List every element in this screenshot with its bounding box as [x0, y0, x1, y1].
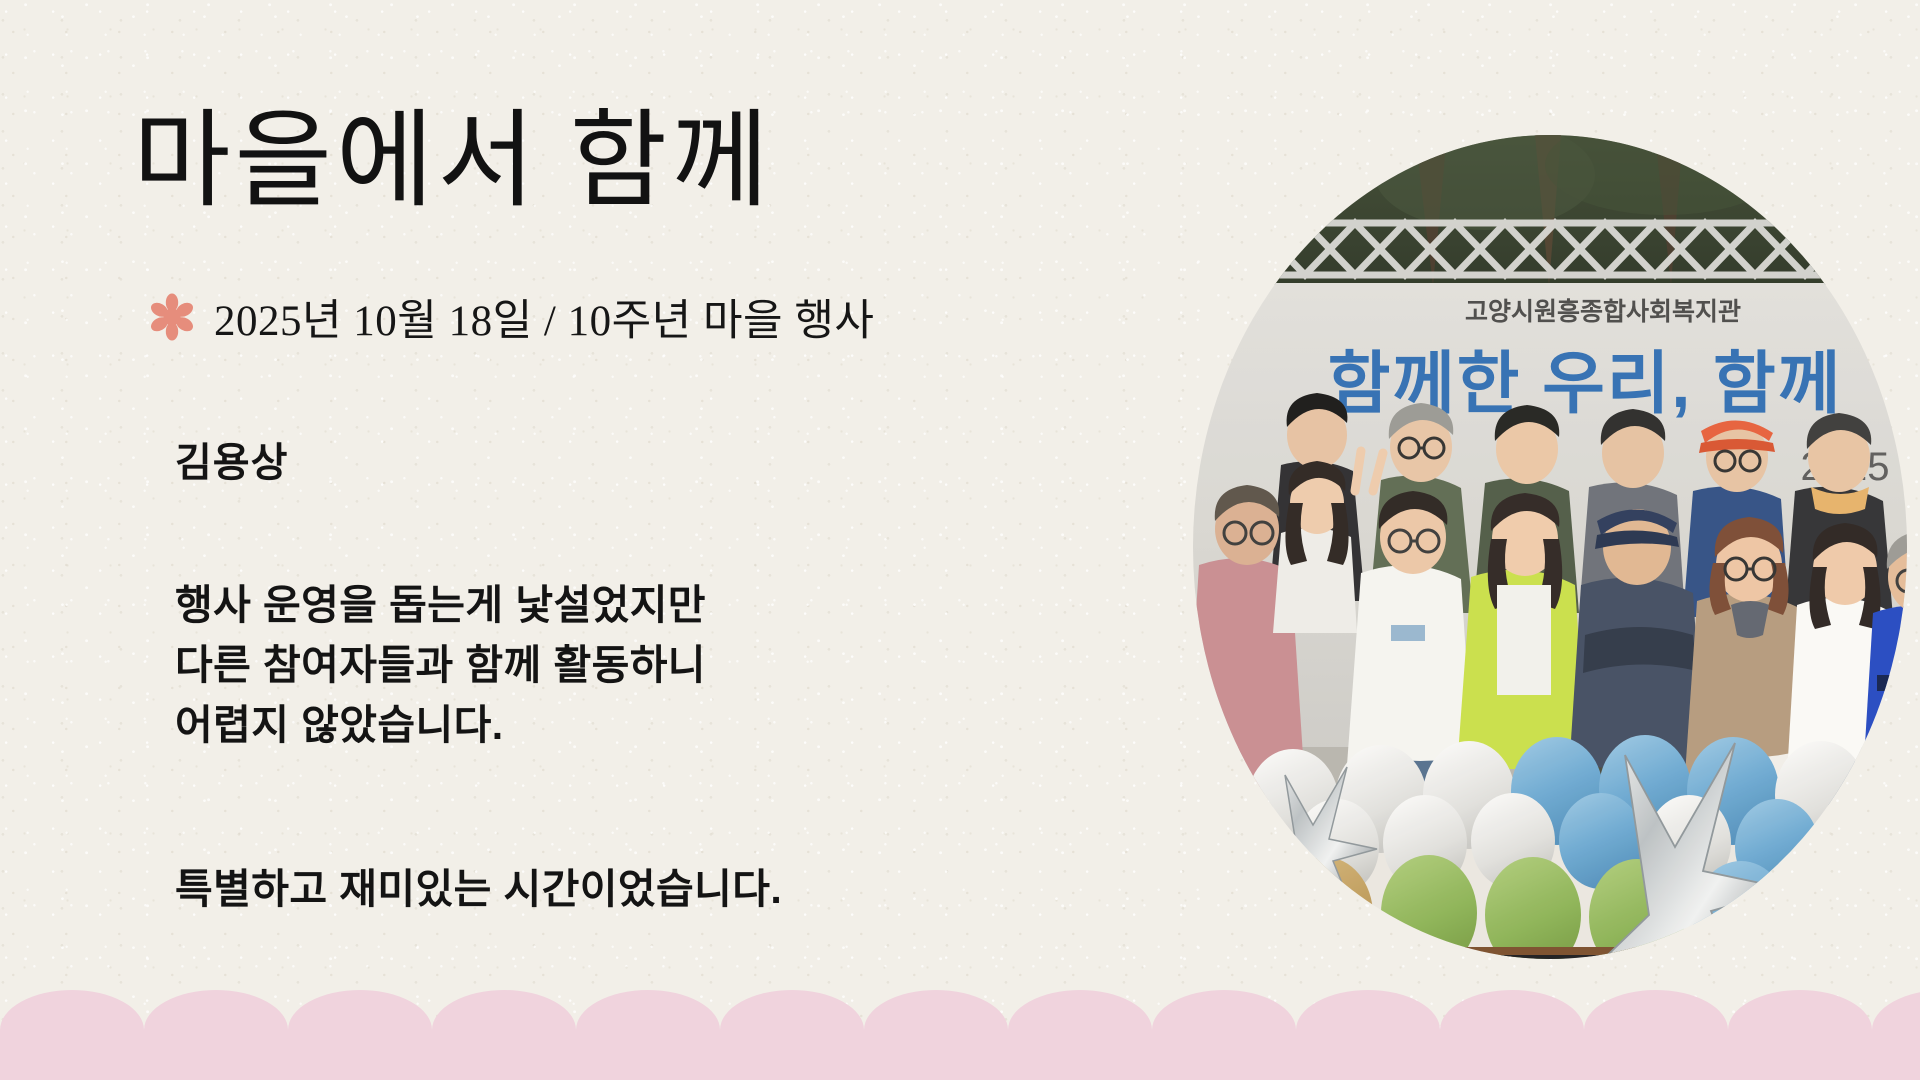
author-name: 김용상 — [175, 430, 288, 488]
body-line: 행사 운영을 돕는게 낯설었지만 — [175, 575, 706, 635]
body-line: 어렵지 않았습니다. — [175, 695, 706, 755]
text-column: 마을에서 함께 2025년 10월 18일 / 10주년 마을 행사 김용상 행… — [0, 0, 1060, 1000]
scallop-border — [0, 990, 1920, 1080]
group-photo: 고양시원흥종합사회복지관 함께한 우리, 함께 2025 흥 — [1185, 135, 1915, 960]
flower-icon — [148, 293, 196, 341]
subtitle-row: 2025년 10월 18일 / 10주년 마을 행사 — [148, 286, 875, 348]
subtitle-text: 2025년 10월 18일 / 10주년 마을 행사 — [214, 286, 875, 348]
body-line: 다른 참여자들과 함께 활동하니 — [175, 635, 706, 695]
group-photo-svg: 고양시원흥종합사회복지관 함께한 우리, 함께 2025 흥 — [1185, 135, 1915, 960]
page-title: 마을에서 함께 — [133, 104, 773, 221]
body-paragraph: 행사 운영을 돕는게 낯설었지만 다른 참여자들과 함께 활동하니 어렵지 않았… — [175, 575, 706, 755]
closing-line: 특별하고 재미있는 시간이었습니다. — [175, 855, 782, 915]
